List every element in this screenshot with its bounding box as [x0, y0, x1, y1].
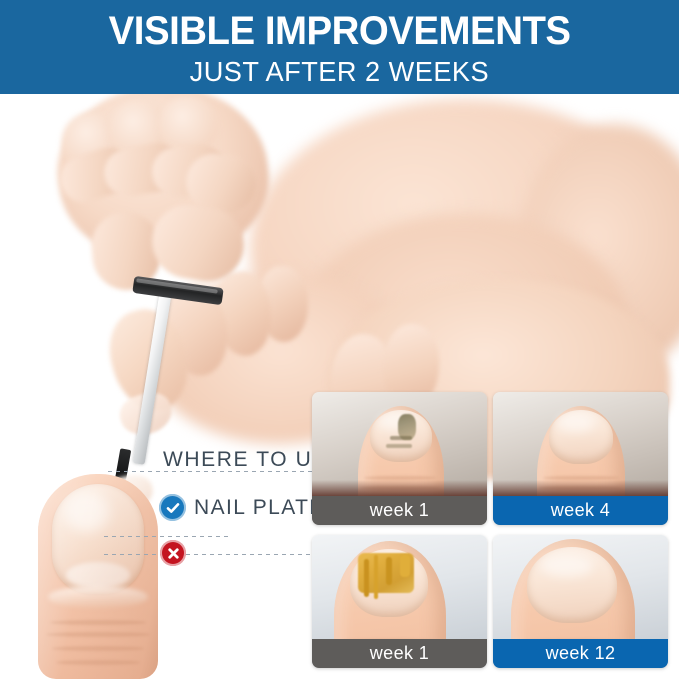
banner-title: VISIBLE IMPROVEMENTS	[109, 11, 571, 51]
result-caption: week 1	[312, 496, 487, 525]
fingertip-diagram	[38, 474, 158, 679]
fingertip-shading	[38, 474, 158, 679]
product-infographic: VISIBLE IMPROVEMENTS JUST AFTER 2 WEEKS	[0, 0, 679, 679]
callout-title-underline	[108, 471, 333, 472]
banner-subtitle: JUST AFTER 2 WEEKS	[190, 58, 490, 86]
result-caption: week 4	[493, 496, 668, 525]
before-after-grid: week 1 week 4	[312, 392, 668, 668]
nail-gloss	[541, 555, 593, 577]
fungal-streak-1	[364, 559, 369, 597]
photo-shadow	[312, 480, 487, 496]
fungal-streak-4	[400, 555, 410, 577]
check-circle-icon	[159, 494, 186, 521]
nail-streak-1	[390, 436, 412, 440]
nail-streak-2	[386, 444, 412, 448]
leader-line-avoid-left	[104, 554, 166, 555]
result-cell: week 12	[493, 535, 668, 668]
nail-gloss	[557, 414, 595, 432]
result-cell: week 4	[493, 392, 668, 525]
fungal-streak-3	[386, 557, 392, 585]
callout-item-nail-plate: NAIL PLATE	[159, 494, 325, 521]
callout-item-label: NAIL PLATE	[194, 496, 325, 520]
result-cell: week 1	[312, 535, 487, 668]
result-caption: week 12	[493, 639, 668, 668]
result-caption: week 1	[312, 639, 487, 668]
result-cell: week 1	[312, 392, 487, 525]
callout-item-avoid	[160, 540, 186, 566]
photo-shadow	[493, 480, 668, 496]
leader-line-nail-plate	[104, 536, 232, 537]
header-banner: VISIBLE IMPROVEMENTS JUST AFTER 2 WEEKS	[0, 0, 679, 94]
x-circle-icon	[160, 540, 186, 566]
fungal-streak-2	[374, 555, 378, 599]
